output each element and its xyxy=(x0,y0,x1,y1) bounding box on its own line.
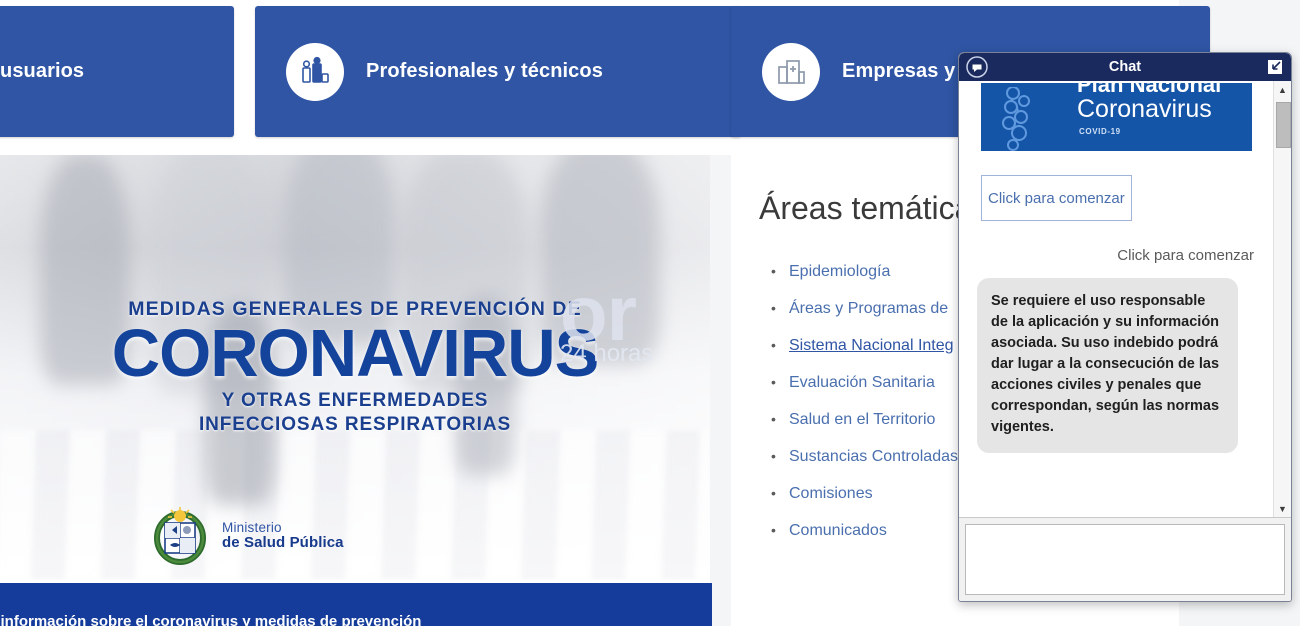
areas-link: Evaluación Sanitaria xyxy=(789,374,935,391)
areas-link: Sustancias Controladas xyxy=(789,448,958,465)
areas-link: Comisiones xyxy=(789,485,873,502)
virus-illustration-icon xyxy=(991,87,1061,151)
areas-link: Comunicados xyxy=(789,522,887,539)
chat-bubble-icon[interactable] xyxy=(965,55,989,79)
page-root: usuarios Profesionales y técnicos xyxy=(0,0,1300,626)
chat-message-input[interactable] xyxy=(965,524,1285,595)
restore-window-icon[interactable] xyxy=(1266,58,1284,76)
ministry-text: Ministerio de Salud Pública xyxy=(222,520,344,552)
nav-card-profesionales[interactable]: Profesionales y técnicos xyxy=(255,6,741,137)
ministry-logo-lockup: Ministerio de Salud Pública xyxy=(152,507,344,565)
areas-link: Sistema Nacional Integ xyxy=(789,337,954,354)
ministry-line-2: de Salud Pública xyxy=(222,535,344,552)
chat-banner-line-3: COVID-19 xyxy=(1079,127,1121,136)
scroll-down-arrow-icon[interactable]: ▼ xyxy=(1274,500,1291,517)
uruguay-coat-of-arms-icon xyxy=(152,507,208,565)
column-gutter xyxy=(710,155,731,626)
chat-header[interactable]: Chat xyxy=(959,53,1291,81)
nav-card-usuarios-label: usuarios xyxy=(0,60,84,83)
hero-strip-text: a información sobre el coronavirus y med… xyxy=(0,613,421,626)
chat-scroll-content: Plan Nacional Coronavirus COVID-19 Click… xyxy=(959,81,1274,517)
scroll-up-arrow-icon[interactable]: ▲ xyxy=(1274,81,1291,98)
hospital-building-icon xyxy=(762,43,820,101)
areas-link: Salud en el Territorio xyxy=(789,411,935,428)
areas-link: Epidemiología xyxy=(789,263,890,280)
hero-line-3: Y OTRAS ENFERMEDADES INFECCIOSAS RESPIRA… xyxy=(0,389,710,438)
chat-message-user: Click para comenzar xyxy=(979,247,1254,264)
nav-card-profesionales-label: Profesionales y técnicos xyxy=(366,60,603,83)
scrollbar-thumb[interactable] xyxy=(1276,102,1291,148)
hero-line-2: CORONAVIRUS xyxy=(0,320,710,387)
hero-line-3b: INFECCIOSAS RESPIRATORIAS xyxy=(199,414,511,435)
page-title: Áreas temáticas xyxy=(759,190,988,227)
hero-bottom-strip: a información sobre el coronavirus y med… xyxy=(0,583,712,626)
chat-scrollbar[interactable]: ▲ ▼ xyxy=(1273,81,1291,517)
chat-coronavirus-banner: Plan Nacional Coronavirus COVID-19 xyxy=(981,83,1252,151)
hero-line-3a: Y OTRAS ENFERMEDADES xyxy=(222,390,489,411)
chat-title: Chat xyxy=(1109,59,1141,75)
chat-banner-line-2: Coronavirus xyxy=(1077,95,1212,124)
hero-banner: MEDIDAS GENERALES DE PREVENCIÓN DE CORON… xyxy=(0,155,710,580)
start-chat-button[interactable]: Click para comenzar xyxy=(981,175,1132,221)
chat-message-bot: Se requiere el uso responsable de la apl… xyxy=(977,278,1238,453)
chat-widget: Chat xyxy=(958,52,1292,602)
areas-link: Áreas y Programas de xyxy=(789,300,948,317)
nav-card-usuarios[interactable]: usuarios xyxy=(0,6,234,137)
hero-text-block: MEDIDAS GENERALES DE PREVENCIÓN DE CORON… xyxy=(0,155,710,580)
chat-message-area: Plan Nacional Coronavirus COVID-19 Click… xyxy=(959,81,1291,517)
chat-input-container xyxy=(959,517,1291,601)
nav-card-empresas-label: Empresas y xyxy=(842,60,955,83)
professionals-icon xyxy=(286,43,344,101)
ministry-line-1: Ministerio xyxy=(222,520,344,535)
